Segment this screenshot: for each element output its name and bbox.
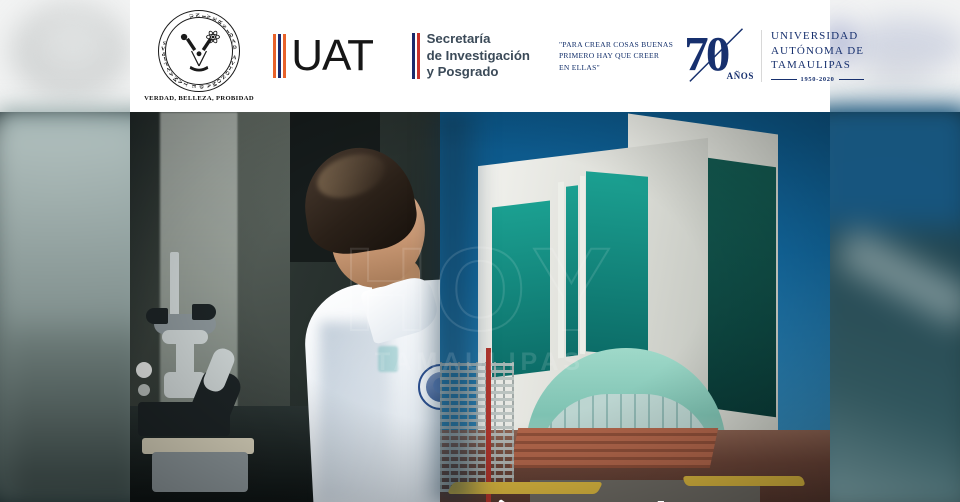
anniversary-number-mark: 70 AÑOS	[686, 25, 752, 87]
uat-seal-logo: U N I V E R S I D A D A V T O N O	[136, 0, 262, 112]
premio-title-line-1: Premio	[546, 493, 693, 502]
seal-ring-text: U N I V E R S I D A D A V T O N O	[158, 10, 240, 92]
anniversary-anos-label: AÑOS	[727, 71, 754, 81]
photo-vignette	[130, 112, 830, 502]
uat-seal-graphic: U N I V E R S I D A D A V T O N O	[158, 10, 240, 92]
divider	[761, 30, 762, 82]
secretaria-text: Secretaría de Investigación y Posgrado	[427, 31, 530, 82]
flask-book-medal-icon-group	[412, 498, 534, 502]
secretaria-logo: Secretaría de Investigación y Posgrado	[384, 0, 546, 112]
motto-line-3: EN ELLAS"	[559, 62, 673, 73]
main-photo: HOY TAMAULIPAS	[130, 112, 830, 502]
institutional-motto: "PARA CREAR COSAS BUENAS PRIMERO HAY QUE…	[546, 0, 686, 112]
secretaria-line-3: y Posgrado	[427, 64, 530, 81]
premio-emblem	[412, 498, 534, 502]
screenshot-root: U N I V E R S I D A D A V T O N O	[0, 0, 960, 502]
anniversary-university-name: UNIVERSIDAD AUTÓNOMA DE TAMAULIPAS 1950-…	[771, 29, 864, 83]
premio-universitario-lockup: Premio Universitario	[412, 498, 808, 502]
anniversary-line-1: UNIVERSIDAD	[771, 29, 864, 44]
seal-motto-text: VERDAD, BELLEZA, PROBIDAD	[144, 95, 254, 102]
motto-text: "PARA CREAR COSAS BUENAS PRIMERO HAY QUE…	[559, 39, 673, 73]
anniversary-line-2: AUTÓNOMA DE	[771, 44, 864, 59]
uat-accent-bars	[273, 34, 286, 78]
motto-line-1: "PARA CREAR COSAS BUENAS	[559, 39, 673, 50]
anniversary-years: 1950-2020	[801, 76, 835, 83]
motto-line-2: PRIMERO HAY QUE CREER	[559, 50, 673, 61]
premio-title: Premio Universitario	[546, 498, 808, 502]
secretaria-accent-bars	[412, 33, 420, 79]
uat-wordmark-text: UAT	[291, 36, 373, 76]
anniversary-70-logo: 70 AÑOS UNIVERSIDAD AUTÓNOMA DE TAMAULIP…	[686, 0, 864, 112]
secretaria-line-1: Secretaría	[427, 31, 530, 48]
uat-wordmark-logo: UAT	[262, 0, 384, 112]
anniversary-years-row: 1950-2020	[771, 76, 864, 83]
logos-header-bar: U N I V E R S I D A D A V T O N O	[130, 0, 830, 112]
anniversary-line-3: TAMAULIPAS	[771, 58, 864, 73]
svg-text:70: 70	[686, 26, 729, 81]
secretaria-line-2: de Investigación	[427, 48, 530, 65]
